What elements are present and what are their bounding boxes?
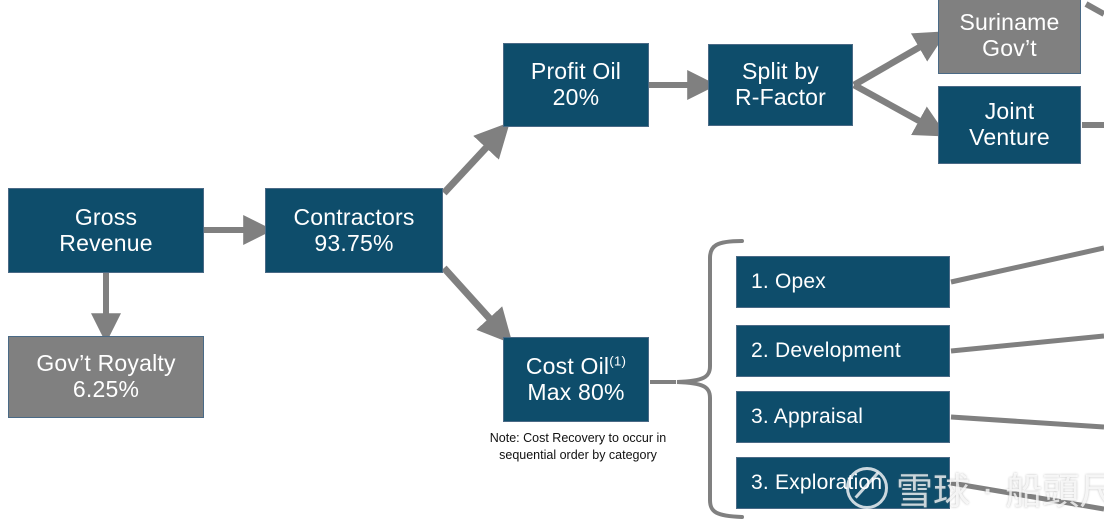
node-cost-oil-line2: Max 80% bbox=[527, 380, 624, 406]
category-box-appraisal[interactable]: 3. Appraisal bbox=[736, 391, 950, 443]
node-cost-oil-line1: Cost Oil(1) bbox=[526, 354, 626, 380]
node-cost-oil[interactable]: Cost Oil(1) Max 80% bbox=[503, 337, 649, 422]
line-suriname-gov-out bbox=[1086, 4, 1104, 14]
category-label-2: 2. Development bbox=[751, 339, 949, 363]
node-split-line1: Split by bbox=[742, 59, 819, 85]
node-gross-revenue[interactable]: Gross Revenue bbox=[8, 188, 204, 273]
node-suriname-gov-line2: Gov’t bbox=[982, 36, 1037, 62]
node-profit-oil-line2: 20% bbox=[553, 85, 600, 111]
node-contractors-line2: 93.75% bbox=[314, 231, 393, 257]
line-category-2-out bbox=[951, 336, 1104, 351]
node-gov-royalty[interactable]: Gov’t Royalty 6.25% bbox=[8, 336, 204, 418]
node-contractors-line1: Contractors bbox=[293, 205, 414, 231]
category-label-4: 3. Exploration bbox=[751, 471, 949, 495]
line-category-3-out bbox=[951, 417, 1104, 427]
node-contractors[interactable]: Contractors 93.75% bbox=[265, 188, 443, 273]
node-gov-royalty-line1: Gov’t Royalty bbox=[36, 351, 175, 377]
node-suriname-gov-line1: Suriname bbox=[959, 10, 1059, 36]
line-category-4-out bbox=[951, 483, 1104, 509]
node-suriname-gov[interactable]: Suriname Gov’t bbox=[938, 0, 1081, 74]
diagram-canvas: Gross Revenue Gov’t Royalty 6.25% Contra… bbox=[0, 0, 1104, 522]
category-label-3: 3. Appraisal bbox=[751, 405, 949, 429]
node-split-line2: R-Factor bbox=[735, 85, 826, 111]
node-gov-royalty-line2: 6.25% bbox=[73, 377, 139, 403]
line-category-1-out bbox=[951, 248, 1104, 282]
node-split-by-r-factor[interactable]: Split by R-Factor bbox=[708, 44, 853, 126]
node-profit-oil-line1: Profit Oil bbox=[531, 59, 621, 85]
category-label-1: 1. Opex bbox=[751, 270, 949, 294]
node-joint-venture-line1: Joint bbox=[985, 99, 1035, 125]
category-box-development[interactable]: 2. Development bbox=[736, 325, 950, 377]
category-box-opex[interactable]: 1. Opex bbox=[736, 256, 950, 308]
cost-recovery-note: Note: Cost Recovery to occur in sequenti… bbox=[480, 430, 676, 463]
cost-recovery-brace bbox=[677, 241, 742, 517]
node-profit-oil[interactable]: Profit Oil 20% bbox=[503, 43, 649, 127]
arrow-contractors-to-cost-oil bbox=[444, 268, 500, 330]
arrow-split-to-suriname-gov bbox=[854, 40, 932, 85]
category-box-exploration[interactable]: 3. Exploration bbox=[736, 457, 950, 509]
node-joint-venture-line2: Venture bbox=[969, 125, 1050, 151]
arrow-contractors-to-profit-oil bbox=[444, 136, 497, 193]
node-joint-venture[interactable]: Joint Venture bbox=[938, 86, 1081, 164]
node-gross-revenue-line2: Revenue bbox=[59, 231, 152, 257]
arrow-split-to-joint-venture bbox=[854, 85, 932, 128]
node-cost-oil-footnote-marker: (1) bbox=[609, 353, 626, 368]
node-gross-revenue-line1: Gross bbox=[75, 205, 137, 231]
